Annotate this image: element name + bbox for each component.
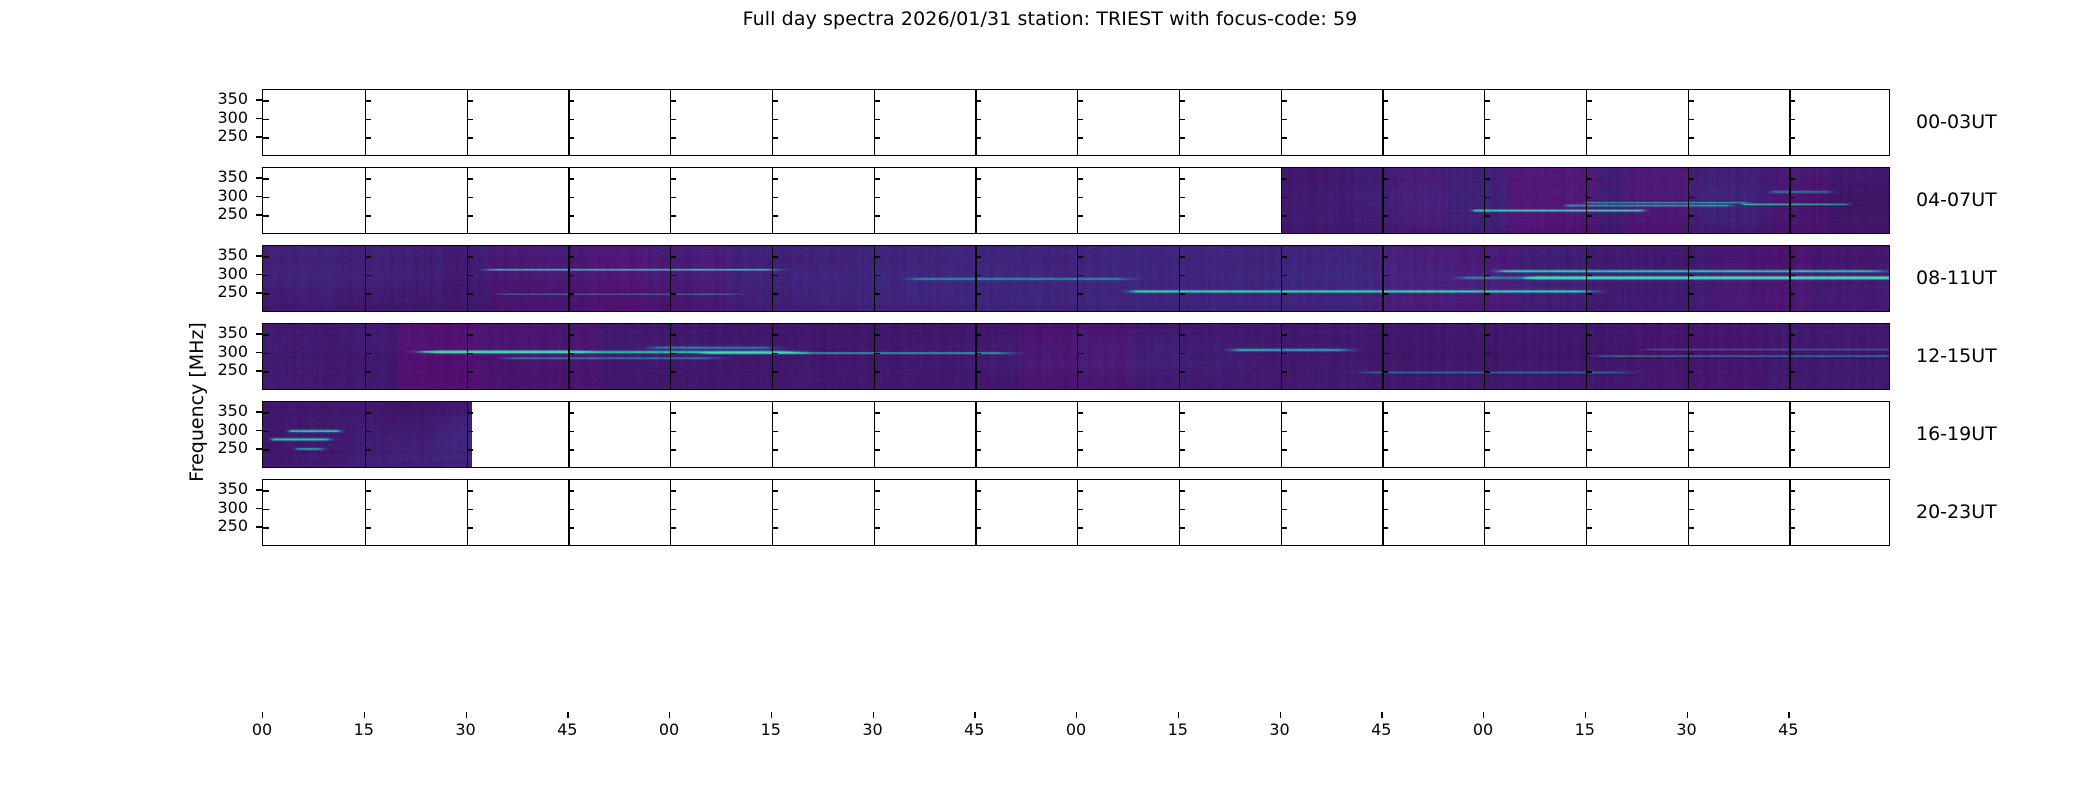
y-tick-mark [1077,293,1083,294]
y-tick-mark [1789,334,1795,335]
y-tick-label: 350 [192,403,248,419]
y-tick-mark [1077,215,1083,216]
y-tick-mark [263,431,269,432]
y-tick-mark [975,431,981,432]
spectrogram-figure: Full day spectra 2026/01/31 station: TRI… [0,0,2100,800]
y-tick-mark-outer [256,177,262,178]
y-tick-mark [263,449,269,450]
y-tick-mark [1179,215,1185,216]
y-tick-mark [1688,215,1694,216]
y-tick-label: 350 [192,325,248,341]
y-tick-mark [365,197,371,198]
y-tick-mark [1281,353,1287,354]
x-tick-mark [364,712,365,718]
y-tick-mark [1688,100,1694,101]
y-tick-mark [670,137,676,138]
y-tick-mark [568,137,574,138]
y-tick-mark [1484,178,1490,179]
y-tick-mark [365,178,371,179]
y-tick-mark [670,334,676,335]
y-tick-mark [1179,178,1185,179]
x-tick-label: 30 [1667,721,1707,738]
y-tick-mark-outer [256,489,262,490]
y-tick-mark [263,293,269,294]
y-tick-mark [1586,431,1592,432]
y-tick-mark [467,215,473,216]
y-tick-mark [772,256,778,257]
y-tick-mark [874,100,880,101]
x-tick-mark [466,712,467,718]
y-tick-mark [263,509,269,510]
y-tick-mark [568,527,574,528]
y-tick-mark-outer [256,526,262,527]
row-plot-area [262,89,1890,156]
y-tick-mark [874,275,880,276]
y-tick-mark [568,490,574,491]
y-tick-mark [365,100,371,101]
y-tick-mark [975,197,981,198]
y-tick-mark [365,449,371,450]
y-tick-label: 300 [192,500,248,516]
y-tick-mark [1382,119,1388,120]
y-tick-mark [1688,490,1694,491]
y-tick-mark [1789,431,1795,432]
y-tick-mark [1484,100,1490,101]
y-tick-mark [1586,293,1592,294]
y-tick-mark [1382,353,1388,354]
y-tick-mark [263,100,269,101]
x-tick-mark [1280,712,1281,718]
y-tick-mark [772,100,778,101]
y-tick-mark [568,353,574,354]
y-tick-mark [365,527,371,528]
y-tick-mark [772,431,778,432]
y-tick-mark-outer [256,508,262,509]
x-tick-mark [1381,712,1382,718]
y-tick-mark [1484,509,1490,510]
y-tick-mark [975,371,981,372]
y-tick-mark [1281,490,1287,491]
spectrogram-row: 350300250 [262,167,1890,234]
x-tick-label: 00 [649,721,689,738]
row-plot-area [262,401,1890,468]
y-tick-mark [467,490,473,491]
y-tick-mark [1382,449,1388,450]
y-tick-mark [670,509,676,510]
y-tick-mark [365,412,371,413]
y-tick-mark [263,215,269,216]
y-tick-mark [467,527,473,528]
y-tick-mark [263,527,269,528]
y-tick-mark [1077,178,1083,179]
y-tick-mark [1789,137,1795,138]
x-tick-label: 15 [344,721,384,738]
y-tick-mark [975,449,981,450]
y-tick-mark-outer [256,352,262,353]
y-tick-mark [1586,215,1592,216]
y-tick-mark [772,137,778,138]
y-tick-mark [467,137,473,138]
y-tick-mark [772,119,778,120]
y-tick-mark [1789,449,1795,450]
y-tick-mark [1281,137,1287,138]
y-tick-mark [1688,353,1694,354]
y-tick-mark [1586,100,1592,101]
y-tick-mark [1586,527,1592,528]
y-tick-mark [1281,431,1287,432]
y-tick-mark [1484,215,1490,216]
y-tick-mark [874,431,880,432]
y-tick-mark [467,334,473,335]
y-tick-mark [1688,527,1694,528]
y-tick-mark [1586,197,1592,198]
y-tick-mark [1077,137,1083,138]
y-tick-mark [1586,490,1592,491]
y-tick-mark [772,490,778,491]
y-tick-mark [1077,353,1083,354]
y-tick-mark [1077,119,1083,120]
x-tick-mark [771,712,772,718]
y-tick-mark [1586,334,1592,335]
y-tick-mark [365,256,371,257]
x-tick-label: 45 [547,721,587,738]
y-tick-mark [1789,509,1795,510]
y-tick-mark [1179,100,1185,101]
y-tick-mark [1281,215,1287,216]
y-tick-mark [975,275,981,276]
y-tick-mark [1484,490,1490,491]
y-tick-mark [670,371,676,372]
y-tick-mark [1586,119,1592,120]
y-tick-mark [1688,137,1694,138]
y-tick-mark [670,256,676,257]
x-tick-label: 15 [751,721,791,738]
y-tick-mark [1281,293,1287,294]
y-tick-mark [1484,353,1490,354]
y-tick-mark [1179,449,1185,450]
row-caption: 20-23UT [1916,503,1997,522]
spectrogram-row: 350300250 [262,401,1890,468]
y-tick-mark [1382,100,1388,101]
y-tick-label: 300 [192,110,248,126]
y-tick-mark [1281,334,1287,335]
y-tick-mark [670,215,676,216]
y-tick-mark [1281,509,1287,510]
y-tick-mark [874,490,880,491]
y-tick-mark [263,119,269,120]
y-tick-mark [1281,197,1287,198]
y-tick-mark [1688,449,1694,450]
y-tick-mark [670,293,676,294]
y-tick-mark [874,256,880,257]
y-tick-mark [1077,431,1083,432]
y-tick-mark [1789,100,1795,101]
y-tick-mark [1586,275,1592,276]
row-plot-area [262,167,1890,234]
y-tick-mark [1484,275,1490,276]
y-tick-mark [1382,490,1388,491]
y-tick-mark [1077,334,1083,335]
y-tick-mark-outer [256,448,262,449]
x-tick-mark [974,712,975,718]
y-tick-mark [1179,137,1185,138]
y-tick-mark [1179,275,1185,276]
x-tick-label: 00 [1056,721,1096,738]
y-tick-mark [1077,100,1083,101]
y-tick-mark [1281,275,1287,276]
y-tick-mark [467,371,473,372]
y-tick-mark-outer [256,136,262,137]
x-tick-label: 30 [1260,721,1300,738]
y-tick-mark [467,178,473,179]
y-tick-mark [263,137,269,138]
y-tick-mark [1484,412,1490,413]
y-tick-mark [874,215,880,216]
y-tick-mark [1789,412,1795,413]
y-tick-label: 350 [192,169,248,185]
y-tick-mark [1077,490,1083,491]
y-tick-mark [467,275,473,276]
y-tick-mark [263,275,269,276]
x-tick-label: 45 [1768,721,1808,738]
x-tick-mark [567,712,568,718]
y-tick-mark [263,334,269,335]
y-tick-mark [1586,178,1592,179]
y-tick-mark [1484,334,1490,335]
x-tick-label: 30 [446,721,486,738]
y-tick-mark [365,137,371,138]
y-tick-mark [467,412,473,413]
y-tick-mark [1484,371,1490,372]
y-tick-mark [1281,371,1287,372]
y-tick-label: 300 [192,266,248,282]
y-tick-mark [1382,431,1388,432]
y-tick-mark [365,293,371,294]
x-tick-mark [1178,712,1179,718]
y-tick-mark [1179,256,1185,257]
y-tick-mark-outer [256,430,262,431]
y-tick-mark [1688,178,1694,179]
y-tick-mark [1382,412,1388,413]
y-tick-mark [568,334,574,335]
y-tick-mark [1077,527,1083,528]
y-tick-mark [975,215,981,216]
y-tick-mark [1281,100,1287,101]
y-tick-mark-outer [256,292,262,293]
y-tick-mark [1382,509,1388,510]
y-tick-mark [1281,256,1287,257]
y-tick-mark [1382,293,1388,294]
y-tick-mark [1484,119,1490,120]
y-tick-mark [1382,275,1388,276]
y-tick-label: 250 [192,284,248,300]
y-tick-mark [1179,371,1185,372]
y-tick-mark [975,353,981,354]
y-tick-mark [467,119,473,120]
row-caption: 08-11UT [1916,269,1997,288]
y-tick-mark [1688,197,1694,198]
y-tick-mark [1688,431,1694,432]
y-tick-mark [1688,371,1694,372]
y-tick-mark [263,412,269,413]
row-caption: 16-19UT [1916,425,1997,444]
y-tick-mark [1179,412,1185,413]
y-tick-mark-outer [256,214,262,215]
y-tick-label: 250 [192,362,248,378]
y-tick-mark [467,293,473,294]
y-tick-label: 250 [192,206,248,222]
x-tick-label: 45 [1361,721,1401,738]
y-tick-mark [1382,178,1388,179]
y-tick-mark [772,293,778,294]
y-tick-mark [1688,412,1694,413]
y-tick-mark [1789,353,1795,354]
x-tick-mark [262,712,263,718]
y-tick-mark [568,275,574,276]
y-tick-label: 300 [192,344,248,360]
y-tick-mark [365,431,371,432]
y-tick-mark [1586,256,1592,257]
y-tick-mark [1789,256,1795,257]
y-tick-mark [1484,527,1490,528]
y-tick-mark [1179,353,1185,354]
y-tick-mark [467,353,473,354]
y-tick-mark [1077,509,1083,510]
y-tick-mark [1484,449,1490,450]
y-tick-mark-outer [256,118,262,119]
x-tick-mark [873,712,874,718]
y-tick-mark [1077,449,1083,450]
y-tick-mark [1382,137,1388,138]
y-tick-mark [568,371,574,372]
y-tick-mark [670,490,676,491]
y-tick-mark-outer [256,333,262,334]
y-tick-mark [1789,490,1795,491]
row-caption: 12-15UT [1916,347,1997,366]
y-tick-mark [772,275,778,276]
y-tick-mark [975,100,981,101]
y-tick-mark [568,197,574,198]
x-tick-label: 00 [242,721,282,738]
y-tick-mark [975,509,981,510]
y-tick-mark [670,197,676,198]
y-tick-mark [365,275,371,276]
y-tick-mark [1789,527,1795,528]
page-title: Full day spectra 2026/01/31 station: TRI… [0,8,2100,30]
y-tick-mark [874,119,880,120]
y-tick-mark [1077,197,1083,198]
y-tick-mark [874,371,880,372]
y-tick-mark [1789,178,1795,179]
y-tick-mark [568,100,574,101]
row-plot-area [262,323,1890,390]
y-tick-mark [1484,431,1490,432]
y-tick-mark [263,197,269,198]
y-tick-label: 350 [192,481,248,497]
y-tick-mark [365,490,371,491]
y-tick-label: 300 [192,422,248,438]
y-tick-mark [1789,275,1795,276]
y-tick-mark [670,449,676,450]
y-tick-mark [670,100,676,101]
y-tick-mark [1179,527,1185,528]
y-tick-mark [263,371,269,372]
y-tick-mark [365,371,371,372]
y-tick-mark [1382,197,1388,198]
y-tick-mark [1586,509,1592,510]
y-tick-mark [772,178,778,179]
y-tick-mark [263,178,269,179]
y-tick-mark [1382,371,1388,372]
y-tick-mark-outer [256,274,262,275]
x-tick-mark [1788,712,1789,718]
y-tick-mark [670,412,676,413]
y-tick-mark [1688,275,1694,276]
y-tick-mark [874,509,880,510]
y-tick-mark [1484,197,1490,198]
y-tick-mark [874,137,880,138]
y-tick-mark [874,293,880,294]
x-tick-label: 45 [954,721,994,738]
y-tick-mark [1789,215,1795,216]
y-tick-mark [1382,256,1388,257]
y-tick-mark-outer [256,255,262,256]
y-tick-mark [1688,119,1694,120]
y-tick-mark [568,119,574,120]
x-tick-mark [1585,712,1586,718]
y-tick-mark [467,509,473,510]
y-tick-mark [1382,334,1388,335]
row-caption: 00-03UT [1916,113,1997,132]
y-tick-mark [772,449,778,450]
y-tick-mark [1586,353,1592,354]
y-tick-mark [467,100,473,101]
y-tick-mark [670,353,676,354]
y-tick-mark [975,119,981,120]
y-tick-mark [975,334,981,335]
y-tick-mark [1179,293,1185,294]
y-tick-mark [467,256,473,257]
y-tick-mark-outer [256,196,262,197]
y-tick-mark [467,449,473,450]
y-tick-mark [1586,449,1592,450]
y-tick-mark [1077,371,1083,372]
x-tick-label: 00 [1463,721,1503,738]
y-tick-mark [568,509,574,510]
y-tick-mark [1484,256,1490,257]
y-tick-mark-outer [256,370,262,371]
y-tick-mark [1281,527,1287,528]
y-tick-mark [568,215,574,216]
y-tick-mark [568,178,574,179]
y-tick-label: 350 [192,91,248,107]
x-tick-mark [669,712,670,718]
y-tick-mark [1281,412,1287,413]
y-tick-mark [1688,334,1694,335]
spectrogram-row: 350300250 [262,323,1890,390]
y-tick-mark [263,353,269,354]
y-tick-mark [670,275,676,276]
row-plot-area [262,479,1890,546]
y-tick-mark [1077,275,1083,276]
y-tick-mark [365,334,371,335]
y-tick-mark [1688,509,1694,510]
y-tick-mark [772,371,778,372]
y-tick-mark [975,293,981,294]
y-tick-mark [1179,490,1185,491]
y-tick-mark-outer [256,411,262,412]
y-tick-mark [1281,119,1287,120]
